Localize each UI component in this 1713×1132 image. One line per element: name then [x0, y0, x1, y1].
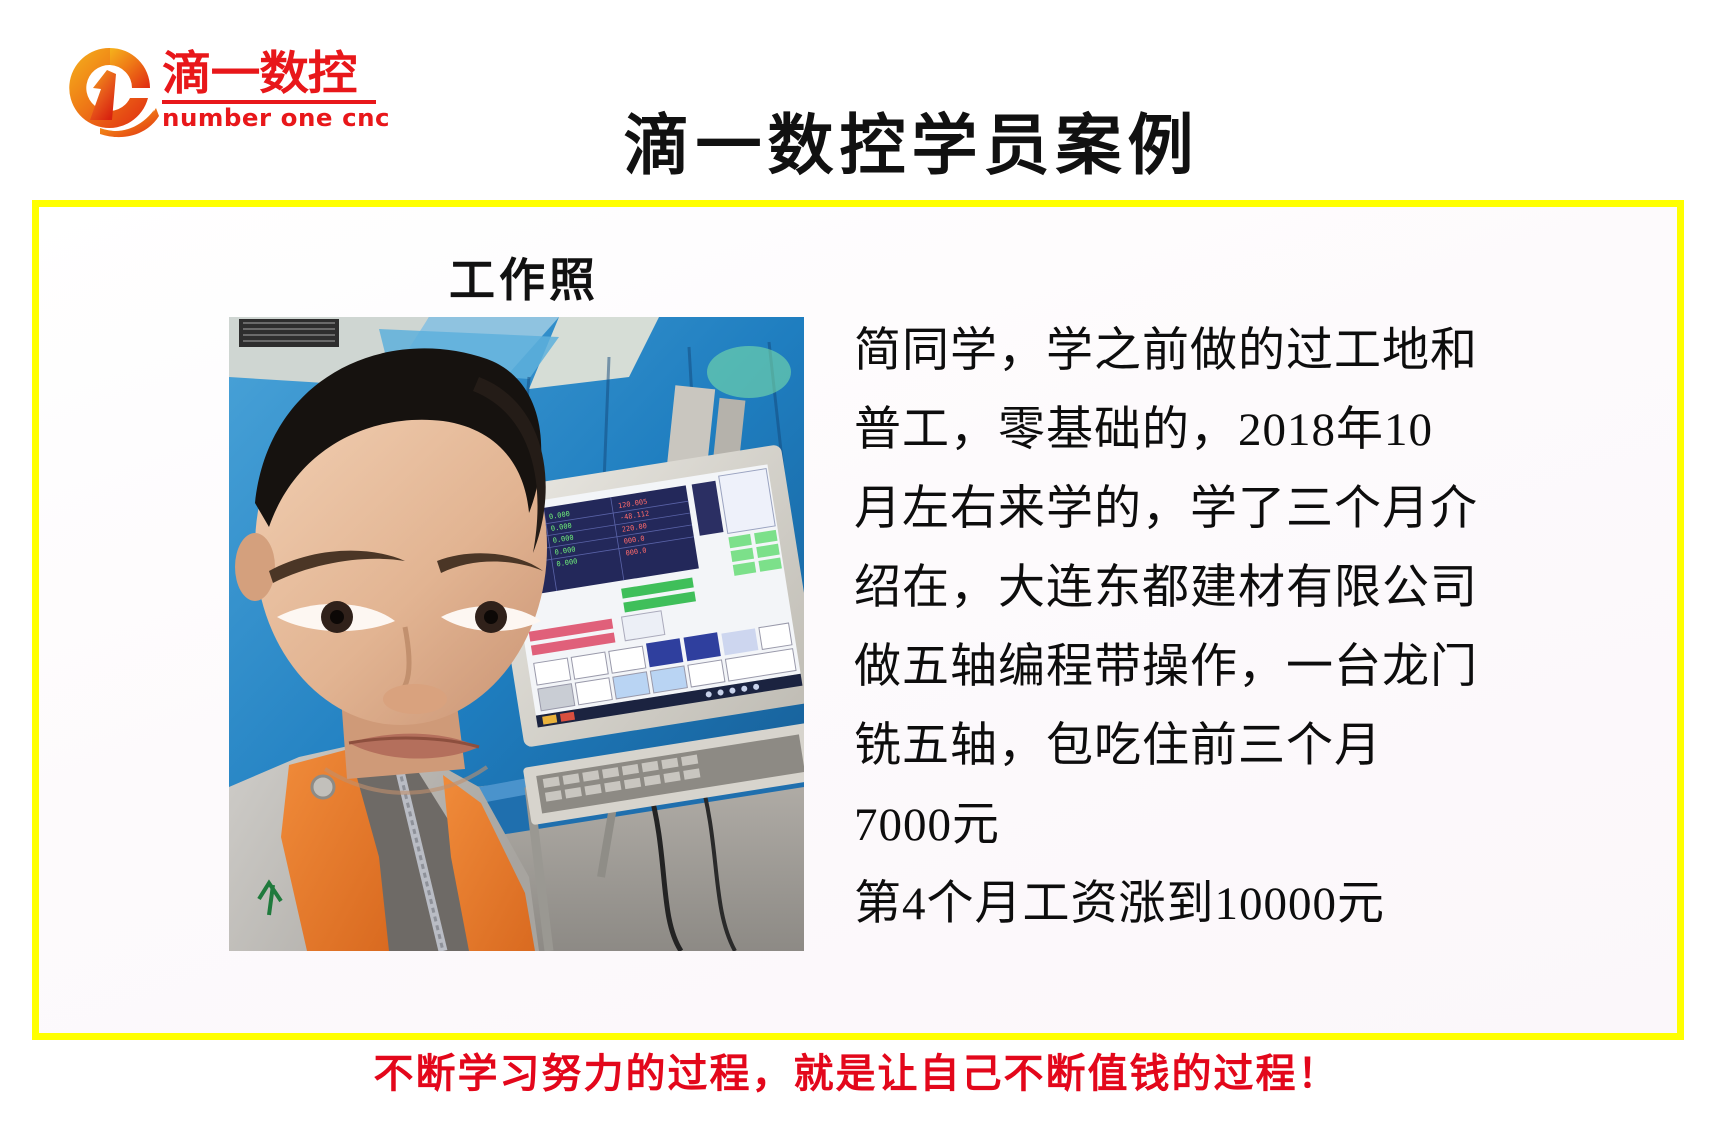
description-line: 第4个月工资涨到10000元 [854, 865, 1664, 944]
page-header: 滴一数控 number one cnc 滴一数控学员案例 [0, 0, 1713, 195]
footer-slogan: 不断学习努力的过程，就是让自己不断值钱的过程！ [0, 1048, 1713, 1100]
description-line: 普工，零基础的，2018年10 [854, 391, 1664, 470]
description-line: 7000元 [854, 786, 1664, 865]
description-line: 月左右来学的，学了三个月介 [854, 470, 1664, 549]
description-line: 简同学，学之前做的过工地和 [854, 312, 1664, 391]
description-line: 铣五轴，包吃住前三个月 [854, 707, 1664, 786]
student-work-photo: X Y Z A C 0.000 0.000 0.000 0.000 0.000 … [229, 317, 804, 951]
description-line: 做五轴编程带操作，一台龙门 [854, 628, 1664, 707]
description-line: 绍在，大连东都建材有限公司 [854, 549, 1664, 628]
case-description: 简同学，学之前做的过工地和 普工，零基础的，2018年10 月左右来学的，学了三… [854, 312, 1664, 944]
brand-name-cn: 滴一数控 [162, 48, 394, 98]
page-title: 滴一数控学员案例 [0, 108, 1713, 186]
photo-label: 工作照 [449, 255, 599, 307]
case-card: 工作照 [32, 200, 1684, 1040]
